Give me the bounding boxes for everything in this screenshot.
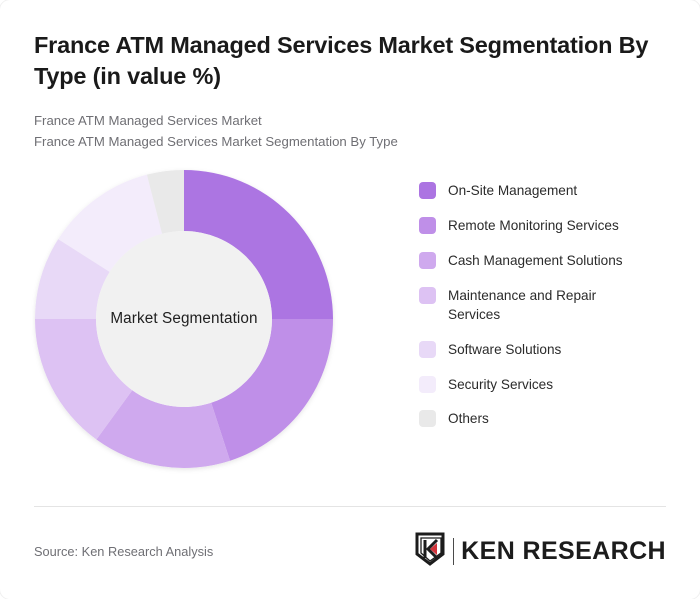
legend-swatch-icon (419, 252, 436, 269)
chart-legend: On-Site ManagementRemote Monitoring Serv… (334, 164, 666, 444)
donut-chart: Market Segmentation (34, 164, 334, 474)
donut-canvas: Market Segmentation (34, 169, 334, 469)
legend-item-label: Cash Management Solutions (448, 251, 623, 270)
brand-logo: KEN RESEARCH (415, 532, 666, 571)
legend-swatch-icon (419, 217, 436, 234)
page-title: France ATM Managed Services Market Segme… (34, 30, 664, 93)
chart-card: France ATM Managed Services Market Segme… (0, 0, 700, 599)
ken-research-shield-k-logo-icon (415, 532, 445, 571)
legend-item-label: Remote Monitoring Services (448, 216, 619, 235)
legend-item-label: Maintenance and Repair Services (448, 286, 628, 325)
legend-item[interactable]: Maintenance and Repair Services (419, 286, 666, 325)
subtitle-segmentation: France ATM Managed Services Market Segme… (34, 131, 666, 152)
footer-row: Source: Ken Research Analysis KEN RESEAR… (34, 532, 666, 571)
legend-item-label: On-Site Management (448, 181, 577, 200)
legend-item-label: Software Solutions (448, 340, 561, 359)
legend-item[interactable]: Others (419, 409, 666, 428)
legend-item[interactable]: Software Solutions (419, 340, 666, 359)
legend-item[interactable]: Cash Management Solutions (419, 251, 666, 270)
donut-hole (96, 231, 272, 407)
chart-footer: Source: Ken Research Analysis KEN RESEAR… (34, 506, 666, 571)
subtitle-market: France ATM Managed Services Market (34, 110, 666, 131)
legend-swatch-icon (419, 287, 436, 304)
legend-swatch-icon (419, 341, 436, 358)
brand-separator (453, 538, 455, 565)
legend-swatch-icon (419, 410, 436, 427)
legend-item[interactable]: Security Services (419, 375, 666, 394)
legend-item[interactable]: Remote Monitoring Services (419, 216, 666, 235)
donut-svg (34, 169, 334, 469)
legend-swatch-icon (419, 376, 436, 393)
legend-swatch-icon (419, 182, 436, 199)
legend-item-label: Security Services (448, 375, 553, 394)
subtitle-group: France ATM Managed Services Market Franc… (34, 110, 666, 153)
chart-header: France ATM Managed Services Market Segme… (0, 0, 700, 152)
source-note: Source: Ken Research Analysis (34, 544, 213, 559)
legend-item-label: Others (448, 409, 489, 428)
brand-name: KEN RESEARCH (461, 537, 666, 566)
chart-body: Market Segmentation On-Site ManagementRe… (0, 152, 700, 482)
legend-item[interactable]: On-Site Management (419, 181, 666, 200)
footer-divider (34, 506, 666, 507)
